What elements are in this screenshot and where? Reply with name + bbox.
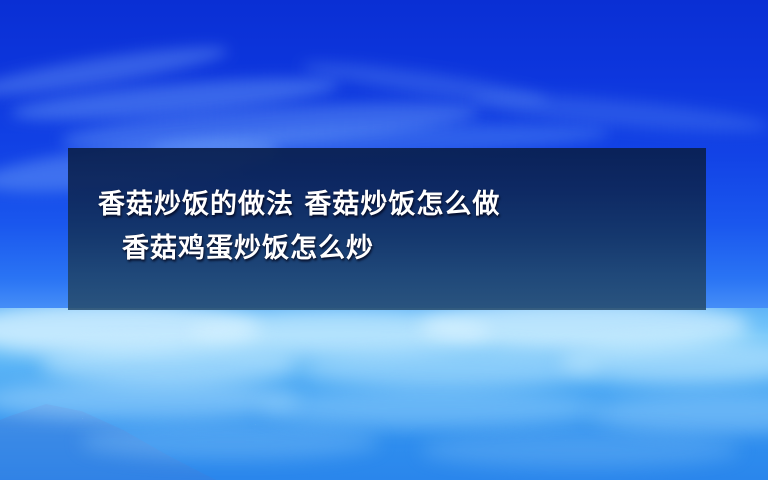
cloud-puff-icon — [590, 394, 768, 434]
cirrus-cloud-wisp-icon — [9, 70, 340, 129]
banner-image: 香菇炒饭的做法 香菇炒饭怎么做 香菇鸡蛋炒饭怎么炒 — [0, 0, 768, 480]
cloud-puff-icon — [560, 338, 768, 384]
headline-line-1: 香菇炒饭的做法 香菇炒饭怎么做 — [92, 183, 682, 227]
cirrus-cloud-wisp-icon — [300, 55, 551, 112]
mountain-ridge-silhouette — [0, 380, 280, 480]
cloud-puff-icon — [40, 342, 300, 386]
headline-overlay-panel: 香菇炒饭的做法 香菇炒饭怎么做 香菇鸡蛋炒饭怎么炒 — [68, 148, 706, 310]
cirrus-cloud-wisp-icon — [0, 38, 230, 104]
cloud-sea-background — [0, 308, 768, 480]
cloud-puff-icon — [420, 308, 750, 352]
cloud-puff-icon — [420, 432, 740, 468]
cloud-puff-icon — [300, 348, 600, 388]
cirrus-cloud-wisp-icon — [469, 87, 768, 139]
headline-line-2: 香菇鸡蛋炒饭怎么炒 — [92, 227, 682, 271]
cloud-puff-icon — [0, 308, 260, 356]
cloud-puff-icon — [190, 310, 490, 356]
cloud-puff-icon — [260, 390, 600, 428]
